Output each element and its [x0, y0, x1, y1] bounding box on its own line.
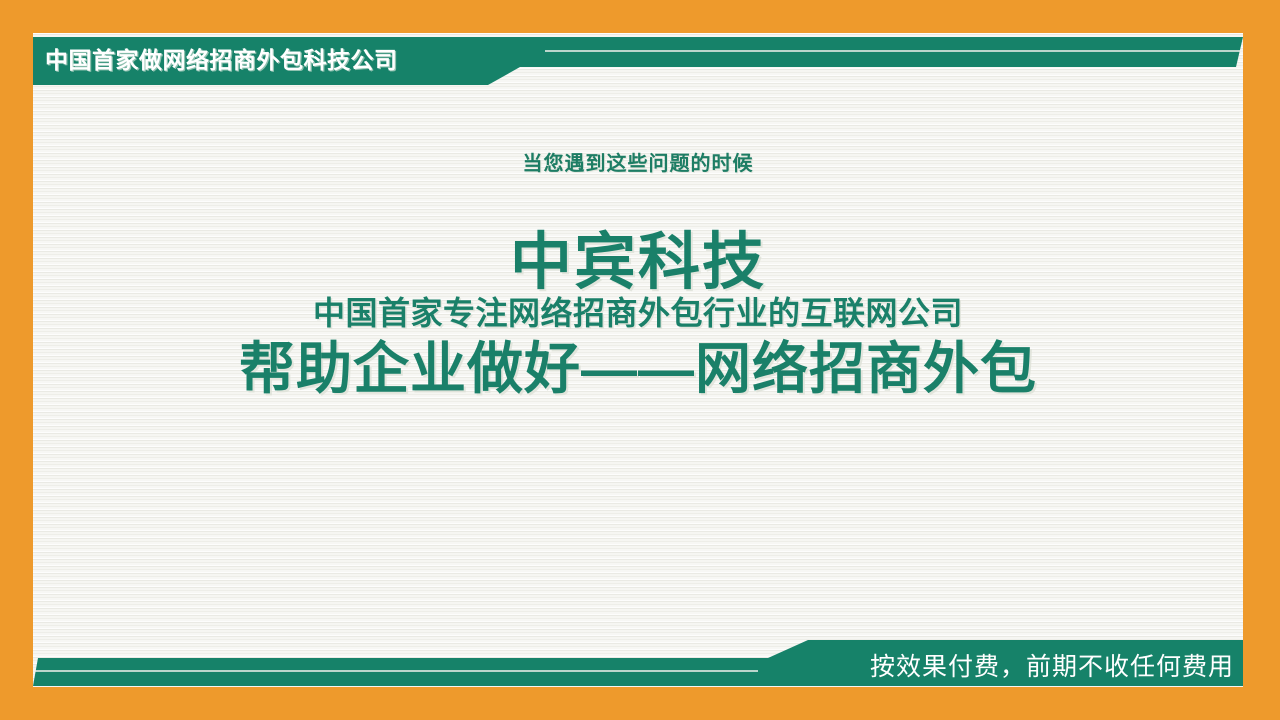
- page-title: 中宾科技: [33, 228, 1243, 298]
- eyebrow-text: 当您遇到这些问题的时候: [33, 150, 1243, 178]
- header-title: 中国首家做网络招商外包科技公司: [45, 43, 398, 77]
- main-content: 当您遇到这些问题的时候 中宾科技 中国首家专注网络招商外包行业的互联网公司 帮助…: [33, 150, 1243, 402]
- tagline-text: 帮助企业做好——网络招商外包: [33, 336, 1243, 402]
- slide-canvas: 中国首家做网络招商外包科技公司 当您遇到这些问题的时候 中宾科技 中国首家专注网…: [0, 0, 1280, 720]
- footer-tagline: 按效果付费，前期不收任何费用: [870, 650, 1234, 684]
- subtitle-text: 中国首家专注网络招商外包行业的互联网公司: [33, 294, 1243, 332]
